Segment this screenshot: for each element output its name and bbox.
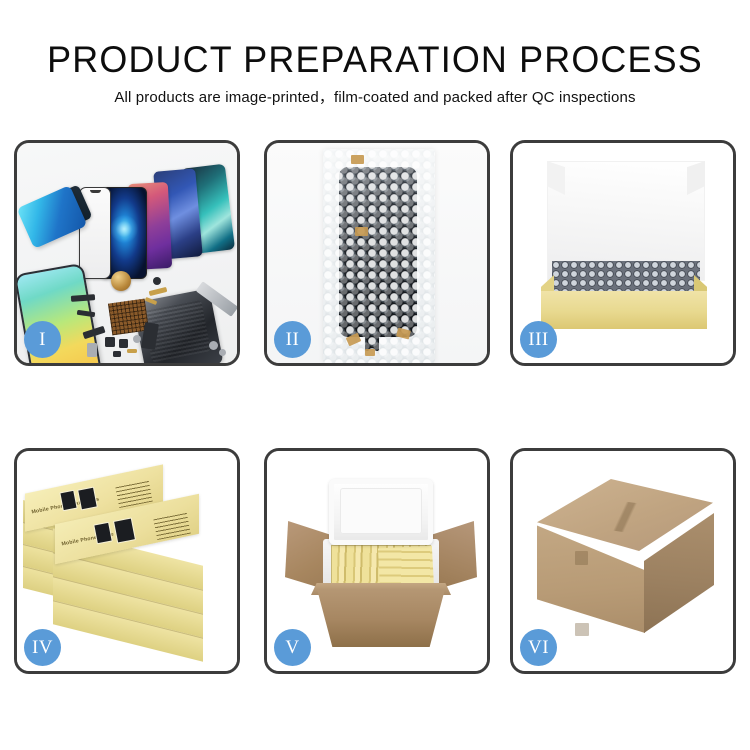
page-subtitle: All products are image-printed，film-coat… xyxy=(0,88,750,108)
step-badge-2: II xyxy=(274,321,311,358)
process-step-card-6: VI xyxy=(510,448,736,674)
process-step-card-4: Mobile Phone Spare Parts Mobile Phone Sp… xyxy=(14,448,240,674)
process-step-card-5: V xyxy=(264,448,490,674)
step-badge-5: V xyxy=(274,629,311,666)
process-step-grid: I II xyxy=(14,140,740,685)
step-badge-1: I xyxy=(24,321,61,358)
step-badge-4: IV xyxy=(24,629,61,666)
step-badge-6: VI xyxy=(520,629,557,666)
process-step-card-2: II xyxy=(264,140,490,366)
process-step-card-3: III xyxy=(510,140,736,366)
page-title: PRODUCT PREPARATION PROCESS xyxy=(11,40,739,80)
step-badge-3: III xyxy=(520,321,557,358)
page-header: PRODUCT PREPARATION PROCESS All products… xyxy=(0,0,750,125)
process-step-card-1: I xyxy=(14,140,240,366)
